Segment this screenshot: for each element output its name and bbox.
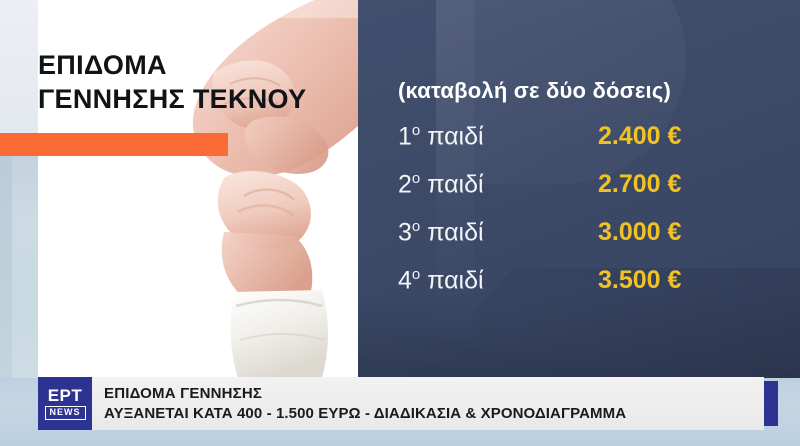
benefit-label: 3ο παιδί [398,218,598,247]
channel-logo-secondary: NEWS [45,406,86,420]
benefit-value: 3.000 € [598,218,681,247]
broadcast-screen: ΕΠΙΔΟΜΑ ΓΕΝΝΗΣΗΣ ΤΕΚΝΟΥ (καταβολή σε δύο… [0,0,800,446]
slide-title-line2: ΓΕΝΝΗΣΗΣ ΤΕΚΝΟΥ [38,82,368,116]
channel-logo-primary: ΕΡΤ [48,387,83,404]
benefit-subtitle: (καταβολή σε δύο δόσεις) [398,78,766,104]
data-panel: (καταβολή σε δύο δόσεις) 1ο παιδί 2.400 … [358,0,800,378]
benefit-ordinal-suffix: ο [412,266,420,283]
benefit-table: (καταβολή σε δύο δόσεις) 1ο παιδί 2.400 … [398,78,766,314]
benefit-label-text: παιδί [420,170,483,198]
benefit-label: 2ο παιδί [398,170,598,199]
benefit-ordinal-suffix: ο [412,122,420,139]
ticker-subheadline: ΑΥΞΑΝΕΤΑΙ ΚΑΤΑ 400 - 1.500 ΕΥΡΩ - ΔΙΑΔΙΚ… [104,404,756,424]
ticker-text-area: ΕΠΙΔΟΜΑ ΓΕΝΝΗΣΗΣ ΑΥΞΑΝΕΤΑΙ ΚΑΤΑ 400 - 1.… [92,377,764,430]
orange-accent-bar [0,133,228,156]
benefit-ordinal: 1 [398,122,412,150]
benefit-label: 4ο παιδί [398,266,598,295]
slide-title-line1: ΕΠΙΔΟΜΑ [38,48,368,82]
benefit-ordinal: 3 [398,218,412,246]
benefit-label-text: παιδί [420,218,483,246]
benefit-row: 1ο παιδί 2.400 € [398,122,766,170]
benefit-value: 2.700 € [598,170,681,199]
benefit-label-text: παιδί [420,266,483,294]
benefit-value: 3.500 € [598,266,681,295]
background-strip-left-inner [0,155,12,378]
ticker-headline: ΕΠΙΔΟΜΑ ΓΕΝΝΗΣΗΣ [104,384,756,404]
ticker-endcap [764,381,778,426]
benefit-value: 2.400 € [598,122,681,151]
benefit-ordinal: 2 [398,170,412,198]
benefit-ordinal: 4 [398,266,412,294]
news-ticker: ΕΡΤ NEWS ΕΠΙΔΟΜΑ ΓΕΝΝΗΣΗΣ ΑΥΞΑΝΕΤΑΙ ΚΑΤΑ… [38,377,778,430]
benefit-row: 3ο παιδί 3.000 € [398,218,766,266]
benefit-ordinal-suffix: ο [412,170,420,187]
benefit-row: 4ο παιδί 3.500 € [398,266,766,314]
slide-title: ΕΠΙΔΟΜΑ ΓΕΝΝΗΣΗΣ ΤΕΚΝΟΥ [38,48,368,116]
benefit-label-text: παιδί [420,122,483,150]
benefit-row: 2ο παιδί 2.700 € [398,170,766,218]
benefit-label: 1ο παιδί [398,122,598,151]
benefit-ordinal-suffix: ο [412,218,420,235]
channel-logo: ΕΡΤ NEWS [38,377,92,430]
